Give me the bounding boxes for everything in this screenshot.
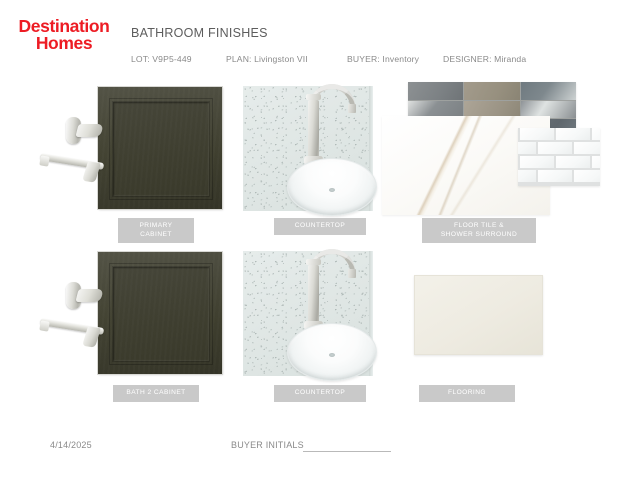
- header-meta: LOT: V9P5-449 PLAN: Livingston VII BUYER…: [131, 54, 601, 68]
- label-flooring: FLOORING: [419, 385, 515, 402]
- footer-date: 4/14/2025: [50, 440, 92, 450]
- wood-grain-texture: [98, 252, 222, 374]
- cabinet-door-panel: [98, 87, 222, 209]
- tile-cell-primary: FLOOR TILE & SHOWER SURROUND: [400, 82, 600, 242]
- page-footer: 4/14/2025 BUYER INITIALS: [0, 440, 621, 464]
- cabinet-door-sample: [40, 82, 230, 215]
- cabinet-cell-bath2: BATH 2 CABINET: [40, 247, 230, 407]
- cabinet-knob-icon: [66, 280, 102, 310]
- countertop-cell-bath2: COUNTERTOP: [243, 247, 393, 407]
- meta-buyer: BUYER: Inventory: [347, 54, 419, 64]
- cabinet-bar-pull-icon: [40, 154, 110, 186]
- cabinet-bar-pull-icon: [40, 319, 110, 351]
- cabinet-door-panel: [98, 252, 222, 374]
- countertop-sample: [243, 82, 393, 215]
- flooring-sample: [400, 247, 600, 380]
- cabinet-cell-primary: PRIMARY CABINET: [40, 82, 230, 242]
- label-countertop-primary: COUNTERTOP: [274, 218, 366, 235]
- meta-plan: PLAN: Livingston VII: [226, 54, 308, 64]
- flooring-cell-bath2: FLOORING: [400, 247, 600, 407]
- cabinet-knob-icon: [66, 115, 102, 145]
- undermount-sink-icon: [287, 158, 377, 216]
- mosaic-subway-tile-swatch: [518, 128, 600, 186]
- undermount-sink-icon: [287, 323, 377, 381]
- cabinet-door-sample: [40, 247, 230, 380]
- meta-lot: LOT: V9P5-449: [131, 54, 192, 64]
- finish-selection-sheet: Destination Homes BATHROOM FINISHES LOT:…: [0, 0, 621, 480]
- wood-grain-texture: [98, 87, 222, 209]
- label-countertop-bath2: COUNTERTOP: [274, 385, 366, 402]
- finish-row-primary: PRIMARY CABINET COUNTERTOP: [0, 82, 621, 242]
- faucet-icon: [295, 247, 357, 329]
- label-primary-cabinet: PRIMARY CABINET: [118, 218, 194, 243]
- company-logo: Destination Homes: [8, 18, 120, 52]
- page-title: BATHROOM FINISHES: [131, 26, 268, 40]
- logo-line-2: Homes: [8, 35, 120, 52]
- label-bath2-cabinet: BATH 2 CABINET: [113, 385, 199, 402]
- flooring-tile-swatch: [414, 275, 543, 355]
- countertop-cell-primary: COUNTERTOP: [243, 82, 393, 242]
- meta-designer: DESIGNER: Miranda: [443, 54, 526, 64]
- buyer-initials-signature-line[interactable]: [303, 451, 391, 452]
- finish-row-bath2: BATH 2 CABINET COUNTERTOP FLOORING: [0, 247, 621, 407]
- label-floor-tile-shower-surround: FLOOR TILE & SHOWER SURROUND: [422, 218, 536, 243]
- countertop-sample: [243, 247, 393, 380]
- tile-sample-group: [400, 82, 600, 215]
- footer-initials-label: BUYER INITIALS: [231, 440, 304, 450]
- faucet-icon: [295, 82, 357, 164]
- page-header: Destination Homes BATHROOM FINISHES LOT:…: [0, 0, 621, 78]
